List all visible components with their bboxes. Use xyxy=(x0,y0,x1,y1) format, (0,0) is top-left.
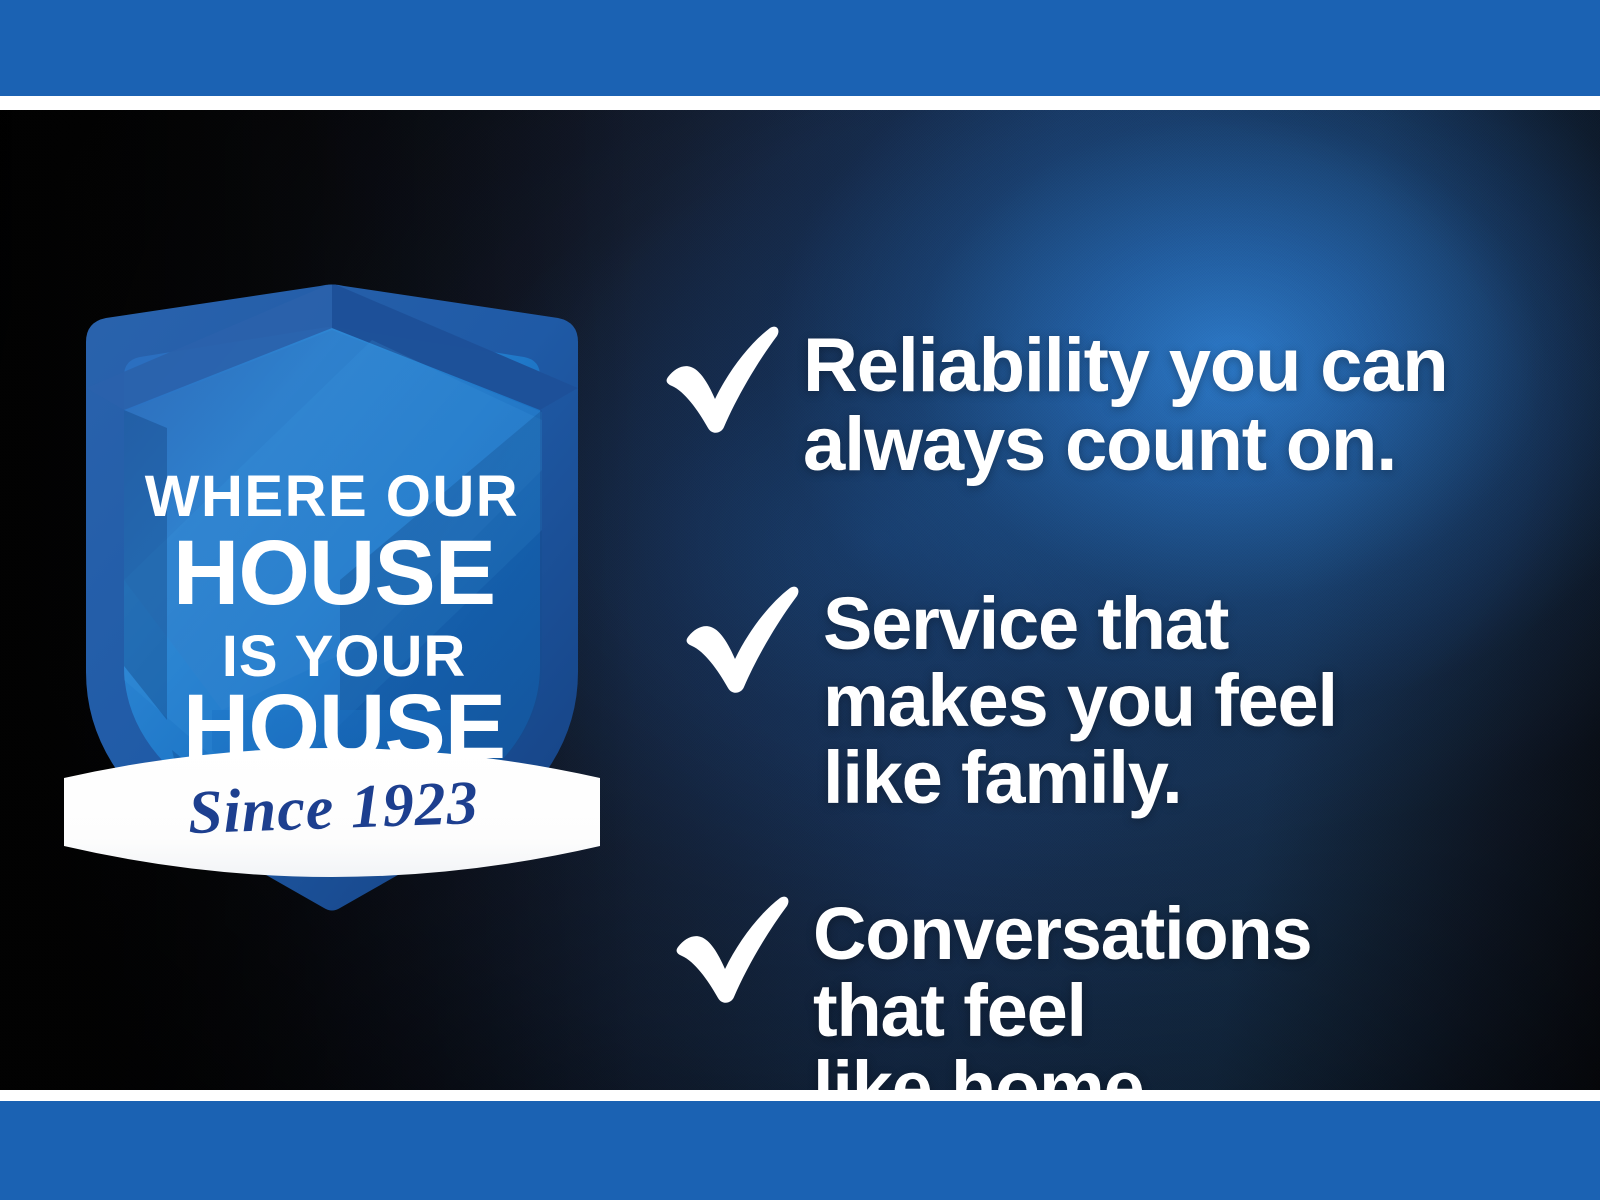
promo-graphic: WHERE OUR HOUSE IS YOUR HOUSE Since 1923… xyxy=(0,0,1600,1200)
list-item-label: Conversations that feel like home. xyxy=(813,896,1311,1090)
list-item-label: Reliability you can always count on. xyxy=(803,326,1448,484)
list-item-label: Service that makes you feel like family. xyxy=(823,586,1337,817)
list-item: Conversations that feel like home. xyxy=(670,890,1311,1090)
brand-shield-badge: WHERE OUR HOUSE IS YOUR HOUSE Since 1923 xyxy=(72,280,592,920)
checkmark-icon xyxy=(670,890,795,1010)
list-item: Reliability you can always count on. xyxy=(660,320,1448,484)
shield-line-0: WHERE OUR xyxy=(145,464,519,529)
shield-line-1: HOUSE xyxy=(173,522,495,624)
checkmark-icon xyxy=(680,580,805,700)
shield-facet-shadow-left xyxy=(124,410,167,720)
top-brand-bar xyxy=(0,0,1600,96)
bottom-brand-bar xyxy=(0,1101,1600,1200)
shield-ribbon-text: Since 1923 xyxy=(187,769,480,847)
checkmark-icon xyxy=(660,320,785,440)
list-item: Service that makes you feel like family. xyxy=(680,580,1337,817)
main-stage: WHERE OUR HOUSE IS YOUR HOUSE Since 1923… xyxy=(0,110,1600,1090)
